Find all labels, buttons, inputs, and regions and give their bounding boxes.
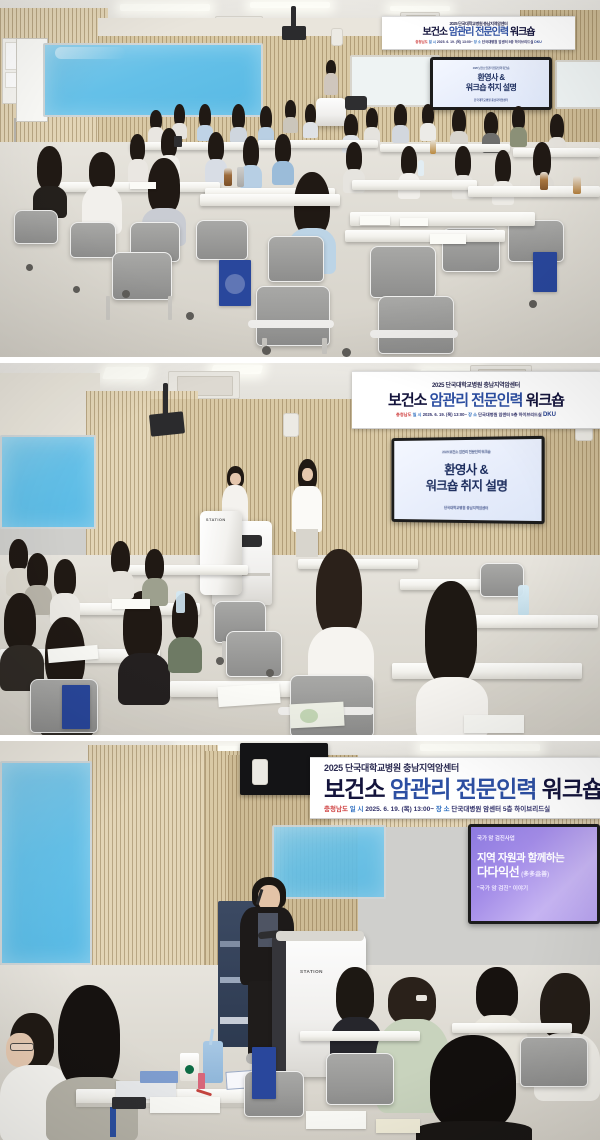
wall-speaker bbox=[331, 28, 343, 46]
banner-title-part1: 보건소 bbox=[324, 776, 384, 802]
attendee bbox=[283, 100, 298, 134]
attendee-body bbox=[420, 123, 436, 141]
desk bbox=[513, 148, 600, 157]
banner-date-value: 2025. 6. 19. (목) 13:00~ bbox=[423, 412, 467, 417]
slide-footer-logo: 단국대학교병원 충남지역암센터 bbox=[444, 505, 488, 510]
attendee-front bbox=[46, 985, 138, 1140]
attendee-hair bbox=[401, 146, 417, 176]
chair-arm bbox=[248, 320, 334, 328]
lecture-line-2-paren: (多多益善) bbox=[521, 869, 549, 878]
slide-footer-logo: 단국대학교병원 충남지역암센터 bbox=[474, 98, 508, 102]
attendee-hair bbox=[388, 977, 436, 1025]
chair bbox=[378, 296, 454, 354]
banner-place-label: 장 소 bbox=[436, 806, 450, 813]
lecture-line-2-wrap: 다다익선 (多多益善) bbox=[477, 865, 549, 880]
slide-line-2: 워크숍 취지 설명 bbox=[426, 478, 508, 494]
banner-title: 보건소 암관리 전문인력 워크숍 bbox=[324, 775, 600, 803]
event-banner: 2025 단국대학교병원 충남지역암센터 보건소 암관리 전문인력 워크숍 충청… bbox=[310, 757, 600, 819]
attendee-body bbox=[303, 122, 318, 138]
banner-date-label: 일 시 bbox=[413, 412, 422, 417]
chair-arm bbox=[370, 330, 458, 338]
document bbox=[400, 218, 428, 226]
attendee-hair bbox=[316, 549, 362, 637]
chair bbox=[70, 222, 116, 258]
blue-board bbox=[0, 761, 92, 965]
chair-leg bbox=[322, 338, 327, 354]
attendee-body bbox=[392, 125, 409, 143]
desk bbox=[300, 1031, 420, 1041]
photo-2-podium-welcome: 2025 단국대학교병원 충남지역암센터 보건소 암관리 전문인력 워크숍 충청… bbox=[0, 363, 600, 735]
drink-cup bbox=[573, 176, 581, 194]
notebook bbox=[140, 1071, 178, 1083]
banner-title-part2: 워크숍 bbox=[526, 392, 564, 409]
attendee bbox=[398, 146, 420, 200]
banner-title: 보건소 암관리 전문인력 워크숍 bbox=[423, 27, 535, 39]
chair bbox=[14, 210, 58, 244]
podium-brand: STATION bbox=[300, 969, 323, 974]
banner-date-label: 일 시 bbox=[350, 806, 364, 813]
attendee-body bbox=[416, 1121, 532, 1140]
attendee-body bbox=[108, 571, 134, 599]
attendee bbox=[142, 549, 168, 605]
gift-bag bbox=[62, 685, 90, 729]
attendee-body bbox=[292, 486, 322, 532]
smartphone bbox=[112, 1097, 146, 1109]
presenter-body bbox=[324, 73, 338, 95]
chair-leg bbox=[106, 296, 110, 320]
attendee-hair bbox=[37, 146, 62, 190]
slide-line-1: 환영사 & bbox=[477, 73, 504, 83]
slide-lecture: 국가 암 검진사업 지역 자원과 함께하는 다다익선 (多多益善) "국가 암 … bbox=[471, 827, 597, 921]
attendee bbox=[0, 593, 44, 689]
banner-org: 충청남도 bbox=[415, 40, 427, 44]
banner-title-highlight: 암관리 전문인력 bbox=[390, 776, 537, 802]
banner-date-value: 2025. 6. 19. (목) 13:00~ bbox=[365, 806, 434, 813]
photo-1-classroom-wide: 2025 단국대학교병원 충남지역암센터 보건소 암관리 전문인력 워크숍 충청… bbox=[0, 0, 600, 357]
desk bbox=[130, 142, 250, 150]
attendee bbox=[450, 108, 468, 148]
lipstick bbox=[198, 1073, 205, 1089]
gift-bag bbox=[533, 252, 557, 292]
banner-title-highlight: 암관리 전문인력 bbox=[449, 27, 508, 38]
attendee-hair bbox=[145, 549, 164, 581]
presenter bbox=[323, 60, 339, 100]
attendee-hair bbox=[243, 136, 259, 168]
podium-brand-label: STATION bbox=[300, 969, 323, 974]
blue-board bbox=[0, 435, 96, 529]
projector-mount bbox=[291, 6, 296, 28]
air-purifier: STATION bbox=[200, 511, 242, 595]
presentation-screen: 2025 보건소 암관리 전문인력 워크숍 환영사 & 워크숍 취지 설명 단국… bbox=[430, 57, 552, 110]
wall-wood-left bbox=[88, 745, 218, 977]
desk bbox=[345, 230, 505, 242]
ceiling-light bbox=[390, 6, 450, 11]
wall-speaker bbox=[252, 759, 268, 785]
iced-coffee-cup bbox=[540, 172, 548, 190]
attendee-hair bbox=[4, 593, 36, 651]
standing-attendee bbox=[292, 459, 322, 555]
attendee bbox=[50, 559, 80, 623]
speaker-face bbox=[230, 473, 241, 485]
banner-date-value: 2025. 6. 19. (목) 13:00~ bbox=[437, 40, 473, 44]
banner-subtitle: 충청남도 일 시 2025. 6. 19. (목) 13:00~ 장 소 단국대… bbox=[324, 805, 550, 814]
slide-supertitle: 2025 보건소 암관리 전문인력 워크숍 bbox=[442, 450, 490, 455]
banner-place-label: 장 소 bbox=[474, 40, 481, 44]
banner-title-highlight: 암관리 전문인력 bbox=[430, 392, 523, 409]
lecture-line-3: "국가 암 검진" 이야기 bbox=[477, 884, 528, 892]
attendee bbox=[364, 108, 380, 144]
banner-place-value: 단국대병원 암센터 5층 하이브리드실 bbox=[451, 806, 550, 813]
chair-caster bbox=[73, 286, 80, 293]
banner-subtitle: 충청남도 일 시 2025. 6. 19. (목) 13:00~ 장 소 단국대… bbox=[396, 412, 556, 418]
banner-title-part1: 보건소 bbox=[388, 392, 426, 409]
attendee-hair bbox=[425, 581, 477, 685]
attendee-body bbox=[283, 117, 298, 133]
slide-welcome: 2025 보건소 암관리 전문인력 워크숍 환영사 & 워크숍 취지 설명 단국… bbox=[394, 439, 541, 521]
attendee-hair bbox=[476, 967, 518, 1019]
attendee-hair bbox=[54, 559, 76, 597]
smartphone bbox=[174, 136, 182, 147]
banner-logo: DKU bbox=[534, 40, 541, 44]
chair bbox=[326, 1053, 394, 1105]
event-banner: 2025 단국대학교병원 충남지역암센터 보건소 암관리 전문인력 워크숍 충청… bbox=[382, 16, 575, 50]
banner-logo: DKU bbox=[543, 412, 556, 418]
banner-org: 충청남도 bbox=[396, 412, 411, 417]
glasses-icon bbox=[10, 1043, 34, 1051]
document bbox=[464, 715, 524, 733]
projector-unit bbox=[282, 26, 306, 40]
document bbox=[430, 234, 466, 244]
hair-clip bbox=[416, 995, 427, 1001]
chair-caster bbox=[529, 300, 537, 308]
attendee-face bbox=[302, 468, 313, 481]
ceiling-light bbox=[102, 367, 150, 379]
chair-caster bbox=[186, 312, 194, 320]
attendee-hair bbox=[111, 541, 130, 575]
presentation-screen: 2025 보건소 암관리 전문인력 워크숍 환영사 & 워크숍 취지 설명 단국… bbox=[391, 436, 544, 524]
slide-welcome: 2025 보건소 암관리 전문인력 워크숍 환영사 & 워크숍 취지 설명 단국… bbox=[433, 60, 549, 107]
notebook-print bbox=[300, 709, 318, 723]
banner-subtitle: 충청남도 일 시 2025. 6. 19. (목) 13:00~ 장 소 단국대… bbox=[415, 40, 541, 45]
document bbox=[376, 1119, 420, 1133]
attendee-hair bbox=[455, 146, 471, 178]
chair bbox=[520, 1037, 588, 1087]
attendee bbox=[303, 104, 318, 138]
desk bbox=[352, 180, 477, 190]
whiteboard-right bbox=[555, 60, 600, 109]
attendee bbox=[108, 541, 134, 597]
attendee-hair bbox=[430, 1035, 516, 1131]
chair-caster bbox=[122, 290, 130, 298]
banner-supertitle: 2025 단국대학교병원 충남지역암센터 bbox=[432, 382, 520, 390]
attendee bbox=[168, 593, 202, 671]
chair-caster bbox=[26, 264, 33, 271]
attendee-hair bbox=[58, 985, 120, 1089]
banner-place-value: 단국대병원 암센터 5층 하이브리드실 bbox=[478, 412, 542, 417]
document bbox=[130, 182, 156, 189]
drink-cup bbox=[430, 140, 436, 154]
ceiling-light bbox=[250, 2, 330, 8]
attendee-body bbox=[510, 127, 527, 147]
attendee-front bbox=[416, 581, 488, 735]
air-purifier-label: STATION bbox=[206, 517, 226, 522]
attendee bbox=[510, 106, 527, 146]
attendee-hair bbox=[275, 134, 291, 164]
gift-bag bbox=[252, 1047, 276, 1099]
ceiling-light bbox=[120, 4, 210, 11]
banner-supertitle: 2025 단국대학교병원 충남지역암센터 bbox=[324, 762, 459, 774]
attendee-hair bbox=[495, 150, 511, 184]
attendee-front bbox=[416, 1035, 532, 1140]
banner-supertitle: 2025 단국대학교병원 충남지역암센터 bbox=[449, 21, 507, 26]
attendee-front bbox=[33, 146, 67, 216]
banner-org: 충청남도 bbox=[324, 806, 348, 813]
attendee bbox=[392, 104, 409, 142]
attendee-hair bbox=[27, 553, 48, 589]
ceiling-light bbox=[420, 744, 540, 751]
document bbox=[306, 1111, 366, 1129]
chair bbox=[112, 252, 172, 300]
attendee-hair bbox=[89, 152, 115, 190]
document bbox=[150, 1097, 220, 1113]
water-bottle bbox=[176, 591, 185, 613]
attendee-hair bbox=[208, 132, 224, 162]
lecture-line-1: 지역 자원과 함께하는 bbox=[477, 851, 564, 865]
attendee-hair bbox=[336, 967, 374, 1023]
chair bbox=[370, 246, 436, 298]
chair bbox=[196, 220, 248, 260]
lecture-screen: 국가 암 검진사업 지역 자원과 함께하는 다다익선 (多多益善) "국가 암 … bbox=[468, 824, 600, 924]
attendee-body bbox=[168, 637, 202, 673]
chair-caster bbox=[342, 348, 351, 357]
water-bottle bbox=[418, 160, 424, 176]
lecture-line-2: 다다익선 bbox=[477, 865, 519, 880]
banner-title: 보건소 암관리 전문인력 워크숍 bbox=[388, 391, 564, 410]
document bbox=[112, 599, 150, 609]
photo-3-lecturer: 2025 단국대학교병원 충남지역암센터 보건소 암관리 전문인력 워크숍 충청… bbox=[0, 741, 600, 1140]
attendee-front bbox=[82, 152, 122, 232]
tumbler bbox=[203, 1041, 223, 1083]
banner-place-label: 장 소 bbox=[468, 412, 477, 417]
attendee bbox=[420, 104, 436, 140]
projector-unit bbox=[149, 411, 185, 436]
desk bbox=[452, 1023, 572, 1033]
banner-title-part2: 워크숍 bbox=[510, 27, 535, 38]
photo-collage: 2025 단국대학교병원 충남지역암센터 보건소 암관리 전문인력 워크숍 충청… bbox=[0, 0, 600, 1140]
chair-caster bbox=[266, 669, 274, 677]
coffee-cup-logo bbox=[185, 1065, 194, 1074]
gift-bag-print bbox=[225, 274, 245, 294]
chair bbox=[226, 631, 282, 677]
chair bbox=[268, 236, 324, 282]
attendee-body bbox=[118, 653, 170, 705]
lecture-supertitle: 국가 암 검진사업 bbox=[477, 834, 515, 842]
slide-supertitle: 2025 보건소 암관리 전문인력 워크숍 bbox=[473, 66, 509, 70]
banner-place-value: 단국대병원 암센터 5층 하이브리드실 bbox=[482, 40, 534, 44]
chair-caster bbox=[262, 346, 271, 355]
banner-date-label: 일 시 bbox=[429, 40, 436, 44]
slide-line-2: 워크숍 취지 설명 bbox=[466, 83, 517, 93]
document bbox=[360, 216, 390, 225]
chair-caster bbox=[216, 657, 224, 665]
attendee bbox=[492, 150, 514, 206]
iced-coffee-cup bbox=[224, 168, 232, 186]
attendee-hair bbox=[346, 142, 362, 172]
banner-title-part2: 워크숍 bbox=[542, 776, 600, 802]
tumbler bbox=[237, 167, 244, 187]
water-bottle bbox=[518, 585, 529, 615]
chair-leg bbox=[168, 296, 172, 320]
chair bbox=[256, 286, 330, 346]
wall-speaker bbox=[283, 413, 299, 437]
event-banner: 2025 단국대학교병원 충남지역암센터 보건소 암관리 전문인력 워크숍 충청… bbox=[352, 371, 600, 429]
podium-top bbox=[276, 931, 364, 941]
desk bbox=[200, 194, 340, 206]
slide-line-1: 환영사 & bbox=[444, 462, 488, 478]
chair-leg bbox=[222, 641, 226, 659]
banner-title-part1: 보건소 bbox=[423, 27, 448, 38]
